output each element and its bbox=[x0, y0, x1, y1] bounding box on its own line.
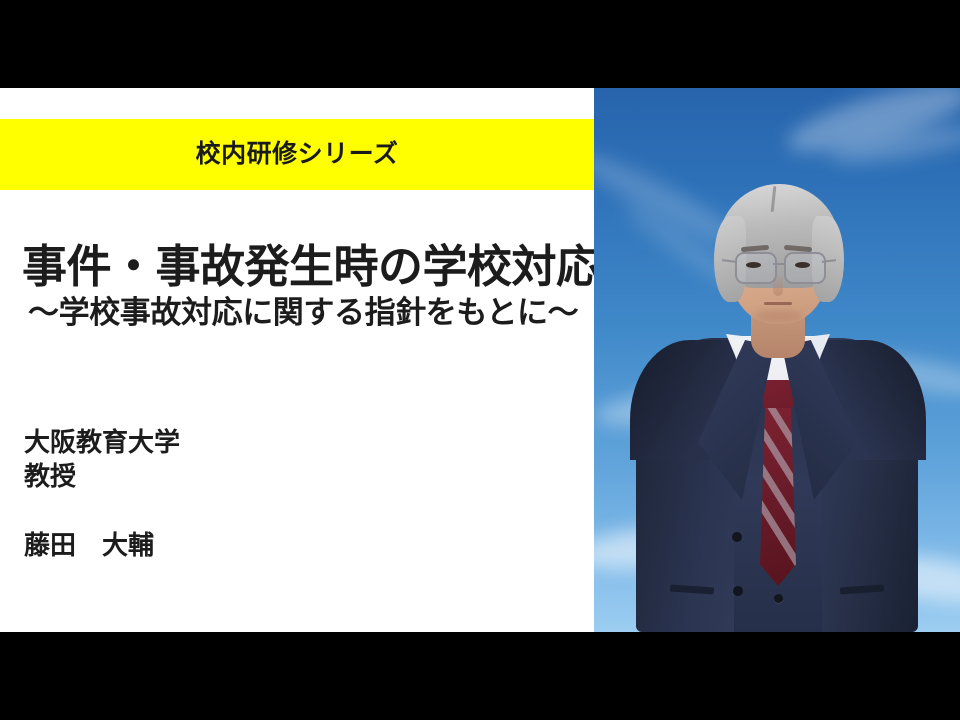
vest-button bbox=[774, 594, 783, 603]
presenter-spacer bbox=[24, 494, 564, 528]
jacket-button bbox=[732, 532, 742, 542]
portrait-figure bbox=[594, 88, 960, 632]
eyeglasses-bridge bbox=[773, 263, 784, 265]
eye-left bbox=[746, 262, 761, 268]
title-block: 事件・事故発生時の学校対応 〜学校事故対応に関する指針をもとに〜 bbox=[0, 243, 594, 330]
nose bbox=[773, 274, 783, 296]
presenter-photo bbox=[594, 88, 960, 632]
mouth bbox=[764, 302, 792, 305]
presenter-position: 教授 bbox=[24, 459, 564, 493]
letterbox-bar-bottom bbox=[0, 632, 960, 720]
series-banner-label: 校内研修シリーズ bbox=[196, 142, 399, 167]
necktie-blade bbox=[760, 408, 796, 586]
series-banner: 校内研修シリーズ bbox=[0, 119, 594, 190]
presenter-affiliation: 大阪教育大学 bbox=[24, 425, 564, 459]
necktie-knot bbox=[763, 380, 793, 412]
presenter-name: 藤田 大輔 bbox=[24, 528, 564, 562]
presenter-block: 大阪教育大学 教授 藤田 大輔 bbox=[24, 425, 564, 562]
text-panel: 校内研修シリーズ 事件・事故発生時の学校対応 〜学校事故対応に関する指針をもとに… bbox=[0, 88, 594, 632]
eyeglasses-lens-right bbox=[784, 252, 826, 284]
letterbox-bar-top bbox=[0, 0, 960, 88]
eye-right bbox=[795, 262, 810, 268]
slide-content-band: 校内研修シリーズ 事件・事故発生時の学校対応 〜学校事故対応に関する指針をもとに… bbox=[0, 88, 960, 632]
chin-shadow bbox=[754, 310, 802, 322]
page-title: 事件・事故発生時の学校対応 bbox=[22, 243, 594, 291]
jacket-button bbox=[733, 586, 743, 596]
eyeglasses-lens-left bbox=[735, 252, 777, 284]
page-subtitle: 〜学校事故対応に関する指針をもとに〜 bbox=[28, 296, 594, 331]
slide-stage: 校内研修シリーズ 事件・事故発生時の学校対応 〜学校事故対応に関する指針をもとに… bbox=[0, 0, 960, 720]
